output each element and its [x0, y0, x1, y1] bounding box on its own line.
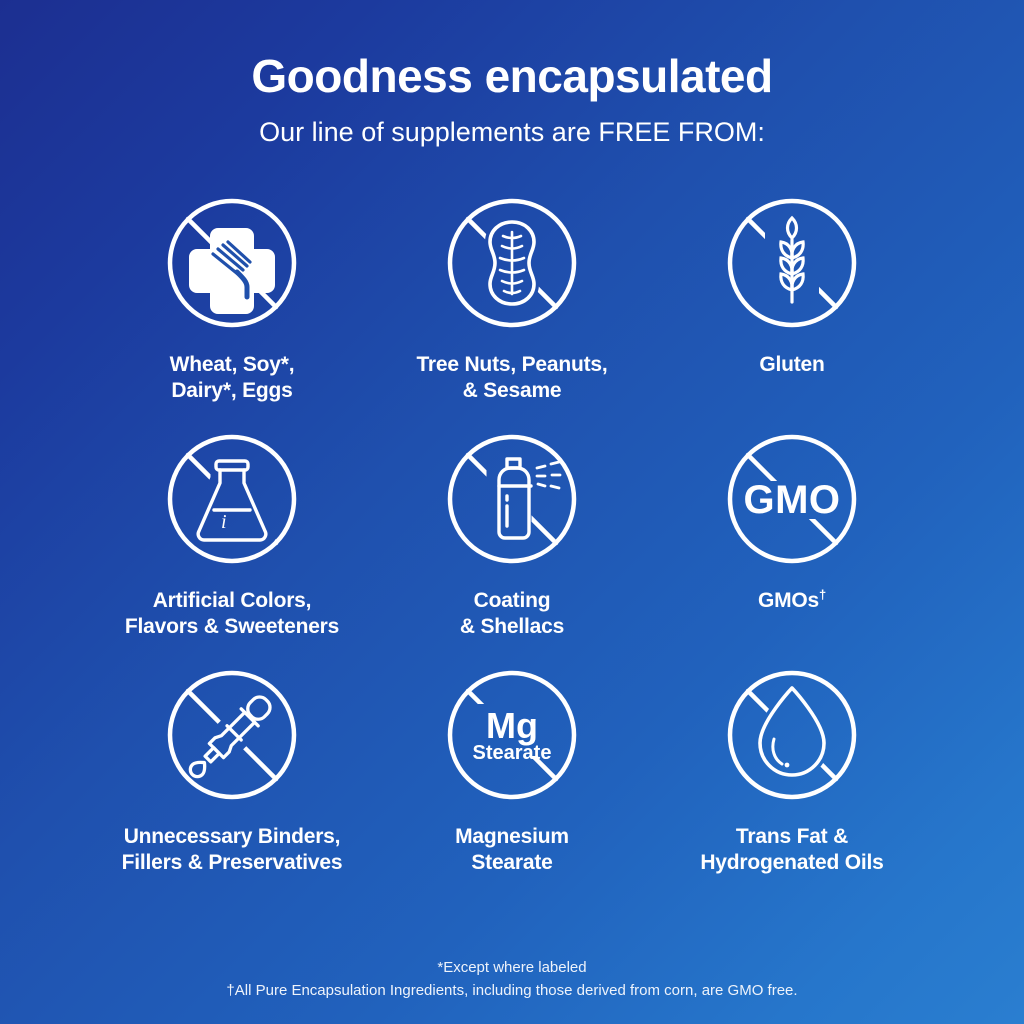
free-from-item-nuts: Tree Nuts, Peanuts, & Sesame: [372, 188, 652, 424]
free-from-item-binders: Unnecessary Binders, Fillers & Preservat…: [92, 660, 372, 896]
item-caption-line2: & Shellacs: [460, 614, 564, 640]
free-from-item-coating: Coating & Shellacs: [372, 424, 652, 660]
item-caption-line1: Coating: [474, 589, 551, 612]
item-caption: Tree Nuts, Peanuts, & Sesame: [416, 352, 607, 405]
item-caption: Unnecessary Binders, Fillers & Preservat…: [122, 824, 343, 877]
svg-text:GMO: GMO: [743, 478, 840, 522]
dropper-pipette-icon: [157, 660, 307, 810]
item-caption-line1: Magnesium: [455, 825, 569, 848]
free-from-item-allergens: Wheat, Soy*, Dairy*, Eggs: [92, 188, 372, 424]
item-caption: Wheat, Soy*, Dairy*, Eggs: [170, 352, 295, 405]
item-caption-line2: Hydrogenated Oils: [700, 850, 883, 876]
promo-graphic: Goodness encapsulated Our line of supple…: [0, 0, 1024, 1024]
page-title: Goodness encapsulated: [0, 52, 1024, 100]
item-caption: Coating & Shellacs: [460, 588, 564, 641]
erlenmeyer-flask-icon: i: [157, 424, 307, 574]
footnote-dagger: †All Pure Encapsulation Ingredients, inc…: [0, 979, 1024, 1002]
item-caption: Magnesium Stearate: [455, 824, 569, 877]
free-from-item-artificial-colors: i Artificial Colors, Flavors & Sweetener…: [92, 424, 372, 660]
item-caption-line2: Fillers & Preservatives: [122, 850, 343, 876]
item-caption: GMOs†: [758, 588, 826, 614]
item-caption-line2: & Sesame: [416, 378, 607, 404]
svg-text:Mg: Mg: [486, 705, 538, 746]
item-caption-line1: Artificial Colors,: [153, 589, 312, 612]
free-from-item-magnesium-stearate: Mg Stearate Magnesium Stearate: [372, 660, 652, 896]
item-caption: Trans Fat & Hydrogenated Oils: [700, 824, 883, 877]
item-caption: Gluten: [759, 352, 824, 378]
allergen-cross-fork-icon: [157, 188, 307, 338]
item-caption-line2: Flavors & Sweeteners: [125, 614, 339, 640]
item-caption-line1: Trans Fat &: [736, 825, 848, 848]
header-block: Goodness encapsulated Our line of supple…: [0, 0, 1024, 148]
svg-text:i: i: [221, 511, 227, 533]
spray-can-icon: [437, 424, 587, 574]
mg-stearate-text-icon: Mg Stearate: [437, 660, 587, 810]
oil-droplet-icon: [717, 660, 867, 810]
page-subtitle: Our line of supplements are FREE FROM:: [0, 118, 1024, 148]
item-caption-line2: Dairy*, Eggs: [170, 378, 295, 404]
item-caption-line1: Gluten: [759, 353, 824, 376]
wheat-stalk-icon: [717, 188, 867, 338]
item-caption-line1: GMOs: [758, 589, 819, 612]
free-from-item-gmo: GMO GMOs†: [652, 424, 932, 660]
item-caption-line2: Stearate: [455, 850, 569, 876]
free-from-grid: Wheat, Soy*, Dairy*, Eggs: [92, 188, 932, 896]
footnote-asterisk: *Except where labeled: [0, 956, 1024, 979]
item-caption-line1: Wheat, Soy*,: [170, 353, 295, 376]
item-caption: Artificial Colors, Flavors & Sweeteners: [125, 588, 339, 641]
svg-text:Stearate: Stearate: [473, 742, 552, 764]
free-from-item-gluten: Gluten: [652, 188, 932, 424]
peanut-icon: [437, 188, 587, 338]
free-from-item-trans-fat: Trans Fat & Hydrogenated Oils: [652, 660, 932, 896]
footnote-marker-dagger: †: [819, 587, 826, 602]
item-caption-line1: Tree Nuts, Peanuts,: [416, 353, 607, 376]
item-caption-line1: Unnecessary Binders,: [124, 825, 341, 848]
footnotes: *Except where labeled †All Pure Encapsul…: [0, 956, 1024, 1003]
gmo-text-icon: GMO: [717, 424, 867, 574]
